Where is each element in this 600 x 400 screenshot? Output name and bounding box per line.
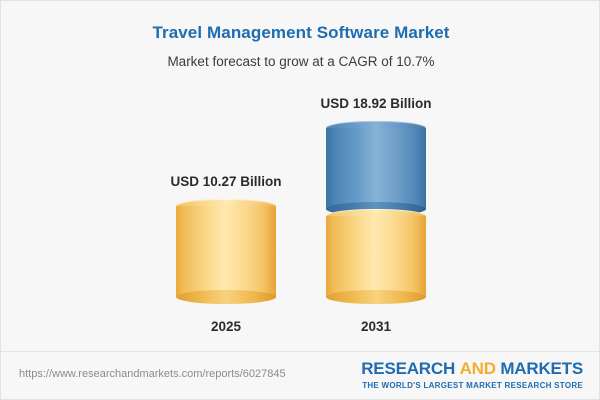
bar-value-label-2025: USD 10.27 Billion: [136, 174, 316, 189]
bar-segment-base-2025: [176, 199, 276, 304]
cylinder-body: [326, 128, 426, 209]
bar-group-2031: USD 18.92 Billion 2031: [326, 121, 426, 304]
footer: https://www.researchandmarkets.com/repor…: [1, 352, 600, 399]
brand-tagline: THE WORLD'S LARGEST MARKET RESEARCH STOR…: [361, 382, 583, 390]
brand-word-markets: MARKETS: [500, 359, 583, 378]
cylinder-body: [326, 216, 426, 297]
brand-wordmark: RESEARCH AND MARKETS: [361, 360, 583, 377]
cylinder-2031[interactable]: [326, 121, 426, 304]
report-url-link[interactable]: https://www.researchandmarkets.com/repor…: [19, 368, 286, 380]
category-label-2031: 2031: [286, 319, 466, 334]
bar-value-label-2031: USD 18.92 Billion: [286, 96, 466, 111]
cylinder-body: [176, 206, 276, 297]
brand-word-research: RESEARCH: [361, 359, 455, 378]
bar-segment-base-2031: [326, 209, 426, 304]
cylinder-bottom-ellipse: [176, 290, 276, 304]
brand-logo[interactable]: RESEARCH AND MARKETS THE WORLD'S LARGEST…: [361, 360, 583, 390]
bar-segment-growth-2031: [326, 121, 426, 216]
chart-canvas: Travel Management Software Market Market…: [0, 0, 600, 400]
bar-group-2025: USD 10.27 Billion 2025: [176, 199, 276, 304]
brand-word-and: AND: [460, 359, 496, 378]
cylinder-2025[interactable]: [176, 199, 276, 304]
cylinder-bottom-ellipse: [326, 290, 426, 304]
plot-area: USD 10.27 Billion 2025 USD 18.92 Billion: [1, 1, 600, 349]
